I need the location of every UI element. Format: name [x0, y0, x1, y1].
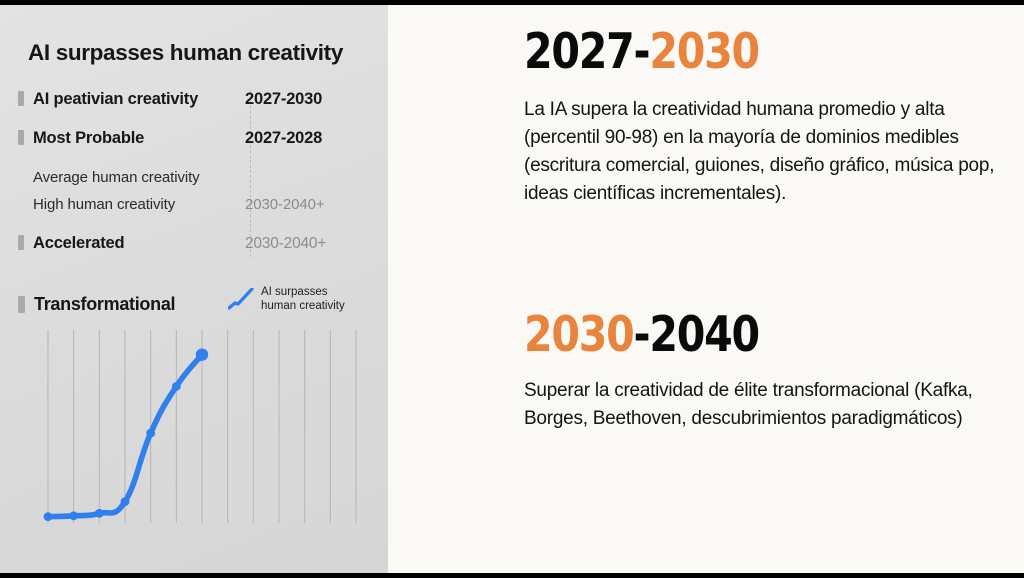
content-block-2: 2030-2040 Superar la creatividad de élit…	[524, 310, 1024, 433]
content-block-1: 2027-2030 La IA supera la creatividad hu…	[524, 27, 1024, 208]
row-value: 2030-2040+	[229, 196, 375, 213]
row-label: AI peativian creativity	[33, 90, 229, 109]
row-marker-placeholder	[18, 169, 24, 184]
headline-2: 2030-2040	[524, 310, 944, 359]
slide-canvas: AI surpasses human creativity AI peativi…	[0, 0, 1024, 578]
row-label: Average human creativity	[33, 169, 229, 186]
chart-plot-area	[0, 275, 388, 573]
row-label: Most Probable	[33, 129, 229, 148]
row-marker-bar-icon	[18, 235, 24, 250]
table-row[interactable]: Most Probable 2027-2028	[18, 128, 374, 148]
bottom-letterbox-bar	[0, 573, 1024, 578]
row-label: Accelerated	[33, 234, 229, 253]
row-label: High human creativity	[33, 196, 229, 213]
timeline-row-list: AI peativian creativity 2027-2030 Most P…	[18, 89, 374, 272]
row-marker-bar-icon	[18, 91, 24, 106]
headline-2-part-1: 2030	[524, 306, 634, 363]
row-value: 2027-2028	[229, 129, 375, 148]
row-value: 2030-2040+	[229, 235, 375, 253]
top-letterbox-bar	[0, 0, 1024, 5]
headline-1-part-1: 2027-	[524, 23, 649, 80]
table-row[interactable]: Average human creativity	[18, 167, 374, 186]
headline-1-part-2: 2030	[649, 23, 759, 80]
row-marker-bar-icon	[18, 130, 24, 145]
headline-1: 2027-2030	[524, 27, 944, 76]
paragraph-1: La IA supera la creatividad humana prome…	[524, 96, 1022, 208]
headline-2-part-2: -2040	[634, 306, 759, 363]
line-chart: Transformational AI surpasses human crea…	[0, 275, 388, 573]
paragraph-2: Superar la creatividad de élite transfor…	[524, 377, 1022, 433]
page-title: AI surpasses human creativity	[28, 41, 368, 66]
row-marker-placeholder	[18, 196, 24, 211]
table-row[interactable]: High human creativity 2030-2040+	[18, 194, 374, 213]
row-value: 2027-2030	[229, 90, 375, 109]
table-row[interactable]: AI peativian creativity 2027-2030	[18, 89, 374, 109]
right-panel: 2027-2030 La IA supera la creatividad hu…	[388, 5, 1024, 573]
table-row[interactable]: Accelerated 2030-2040+	[18, 233, 374, 253]
left-panel: AI surpasses human creativity AI peativi…	[0, 5, 388, 573]
